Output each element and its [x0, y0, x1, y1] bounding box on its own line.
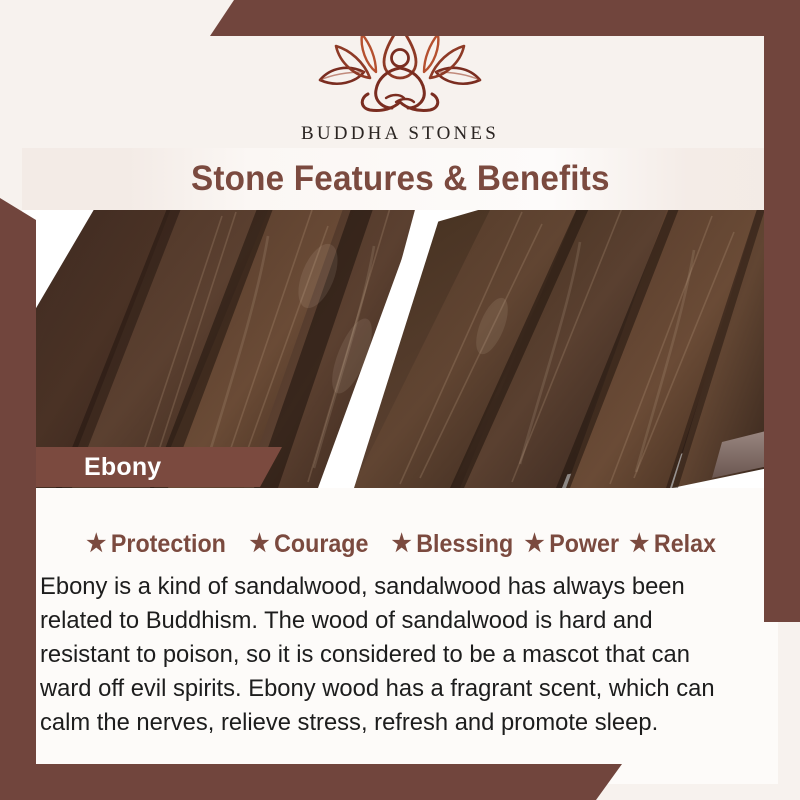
- description-text: Ebony is a kind of sandalwood, sandalwoo…: [40, 570, 740, 740]
- title-band: Stone Features & Benefits: [22, 148, 778, 210]
- benefit-label: Protection: [111, 530, 226, 559]
- star-icon: ★: [629, 532, 649, 556]
- frame-bar-left: [0, 198, 36, 800]
- benefit-label: Courage: [274, 530, 368, 559]
- benefit-label: Power: [549, 530, 619, 559]
- product-photo: [22, 206, 778, 488]
- lotus-meditation-icon: [312, 24, 488, 121]
- benefit-label: Blessing: [417, 530, 514, 559]
- frame-bar-right: [764, 0, 800, 622]
- benefit-item-protection: ★ Protection: [86, 530, 226, 559]
- benefit-item-blessing: ★ Blessing: [392, 530, 514, 559]
- benefit-item-power: ★ Power: [525, 530, 619, 559]
- poster-root: BUDDHA STONES Stone Features & Benefits …: [0, 0, 800, 800]
- benefit-item-relax: ★ Relax: [629, 530, 716, 559]
- benefits-row: ★ Protection ★ Courage ★ Blessing ★ Powe…: [22, 524, 778, 564]
- benefit-item-courage: ★ Courage: [250, 530, 369, 559]
- star-icon: ★: [250, 532, 270, 556]
- star-icon: ★: [525, 532, 545, 556]
- star-icon: ★: [392, 532, 412, 556]
- lotus-logo-svg: [312, 24, 488, 116]
- frame-bar-top: [210, 0, 800, 36]
- brand-name: BUDDHA STONES: [301, 123, 499, 145]
- benefit-label: Relax: [653, 530, 715, 559]
- frame-bar-bottom: [0, 764, 622, 800]
- star-icon: ★: [86, 532, 106, 556]
- product-label: Ebony: [84, 453, 161, 482]
- ebony-wood-illustration: [22, 206, 778, 488]
- page-title: Stone Features & Benefits: [191, 159, 610, 199]
- product-label-banner: Ebony: [22, 447, 282, 487]
